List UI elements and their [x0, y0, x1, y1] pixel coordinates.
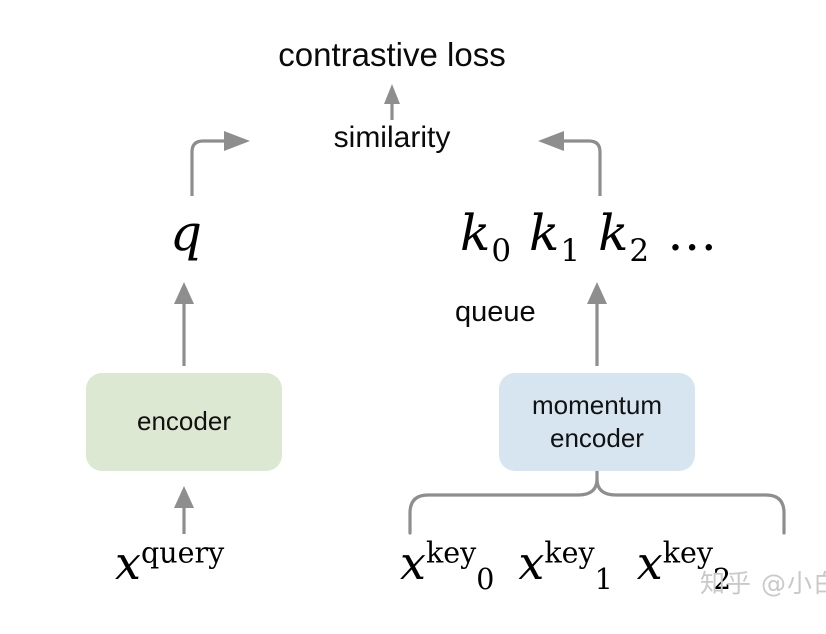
momentum-encoder-line-2: encoder [550, 423, 644, 453]
key-representation-0: k0 [460, 204, 512, 262]
key-input-1-subscript: 1 [595, 563, 613, 596]
key-input-1-base: x [518, 536, 544, 590]
key-representations-row: k0k1k2… [460, 208, 718, 258]
queue-label: queue [455, 298, 536, 327]
key-input-1: xkey1 [518, 536, 612, 590]
momentum-encoder-line-1: momentum [532, 390, 662, 420]
arrow-similarity-to-loss [384, 84, 400, 120]
key-representation-1: k1 [529, 204, 581, 262]
key-1-base: k [529, 204, 560, 262]
key-2-subscript: 2 [629, 233, 650, 269]
brace-key-inputs [410, 466, 784, 533]
encoder-box-label: encoder [137, 405, 231, 438]
contrastive-loss-label: contrastive loss [0, 38, 784, 71]
key-2-base: k [598, 204, 629, 262]
query-input-symbol: xquery [115, 540, 224, 586]
key-0-subscript: 0 [491, 233, 512, 269]
arrow-input-to-encoder [174, 486, 194, 534]
encoder-box[interactable]: encoder [86, 373, 282, 471]
key-input-0-subscript: 0 [476, 563, 494, 596]
key-1-subscript: 1 [560, 233, 581, 269]
key-input-1-superscript: key [544, 537, 594, 570]
key-input-0: xkey0 [400, 536, 494, 590]
query-symbol-base: q [170, 204, 202, 262]
key-input-0-base: x [400, 536, 426, 590]
arrow-encoder-to-query [174, 282, 194, 366]
moco-architecture-diagram: contrastive loss similarity queue q k0k1… [0, 0, 826, 634]
key-input-0-superscript: key [426, 537, 476, 570]
query-representation-symbol: q [170, 208, 202, 258]
watermark: 知乎 @小白 [700, 564, 826, 600]
key-input-2-base: x [637, 536, 663, 590]
key-0-base: k [460, 204, 491, 262]
similarity-label: similarity [0, 123, 784, 153]
query-input-superscript: query [141, 537, 224, 570]
arrow-momentum-encoder-to-keys [587, 282, 607, 366]
momentum-encoder-box[interactable]: momentumencoder [499, 373, 695, 471]
query-input-base: x [115, 536, 141, 590]
key-representation-2: k2 [598, 204, 650, 262]
keys-ellipsis: … [667, 204, 718, 262]
momentum-encoder-box-label: momentumencoder [532, 389, 662, 456]
